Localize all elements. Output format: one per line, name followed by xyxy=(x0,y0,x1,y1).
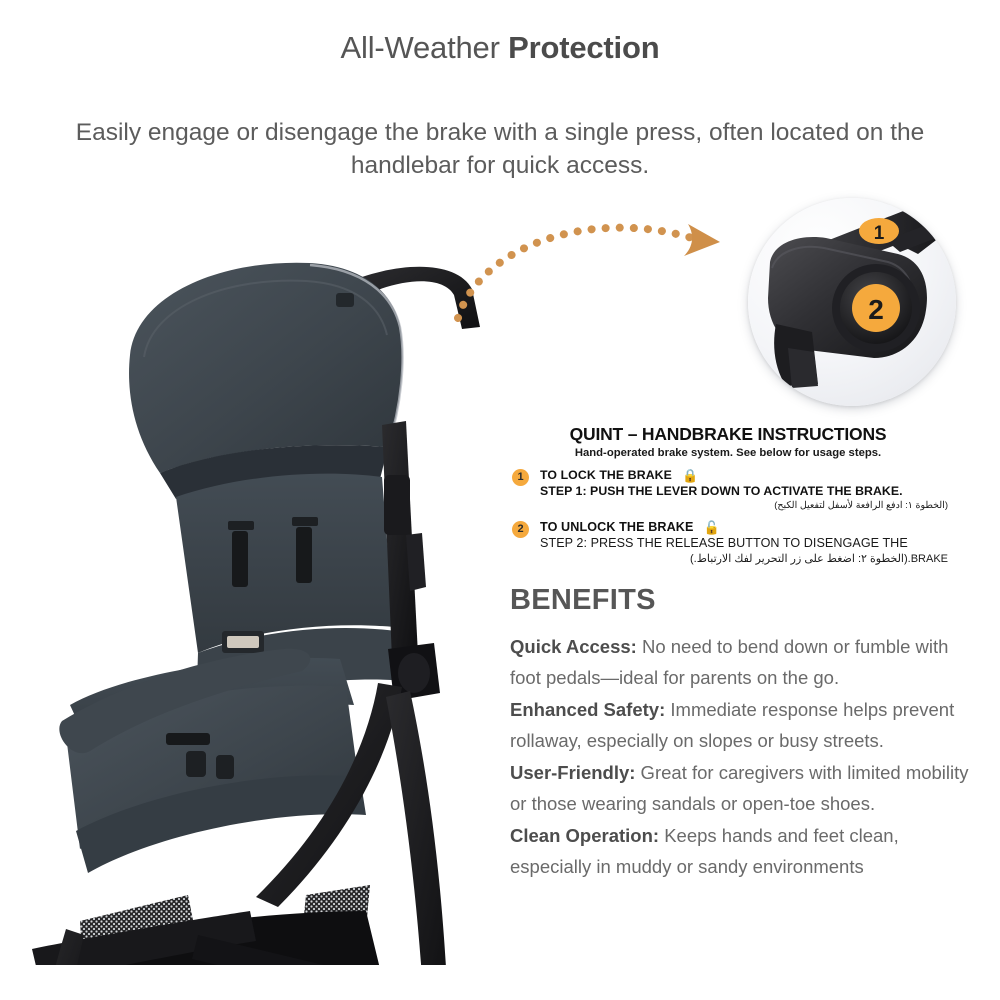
badge-2-label: 2 xyxy=(868,294,884,325)
step-2-heading: TO UNLOCK THE BRAKE xyxy=(540,520,694,534)
stroller-product-photo xyxy=(10,235,510,965)
step-2-arabic: BRAKE.(الخطوة ٢: اضغط على زر التحرير لفك… xyxy=(540,552,948,565)
instructions-title: QUINT – HANDBRAKE INSTRUCTIONS xyxy=(508,424,948,445)
closed-padlock-icon: 🔒 xyxy=(682,469,698,482)
step-2-heading-row: TO UNLOCK THE BRAKE 🔓 xyxy=(540,520,948,534)
page-subtitle: Easily engage or disengage the brake wit… xyxy=(60,117,940,182)
benefits-section: BENEFITS Quick Access: No need to bend d… xyxy=(510,584,980,883)
step-1-arabic: (الخطوة ١: ادفع الرافعة لأسفل لتفعيل الك… xyxy=(540,500,948,511)
step-2-badge: 2 xyxy=(512,521,529,538)
instructions-subtitle: Hand-operated brake system. See below fo… xyxy=(508,447,948,459)
benefit-label: Quick Access: xyxy=(510,636,637,657)
benefit-item: User-Friendly: Great for caregivers with… xyxy=(510,757,980,820)
handbrake-instructions-panel: QUINT – HANDBRAKE INSTRUCTIONS Hand-oper… xyxy=(508,424,948,565)
step-1-heading-row: TO LOCK THE BRAKE 🔒 xyxy=(540,468,948,482)
benefits-title: BENEFITS xyxy=(510,584,980,617)
step-2-line: STEP 2: PRESS THE RELEASE BUTTON TO DISE… xyxy=(540,536,948,550)
step-1-badge: 1 xyxy=(512,469,529,486)
benefit-item: Quick Access: No need to bend down or fu… xyxy=(510,631,980,694)
benefit-label: User-Friendly: xyxy=(510,762,635,783)
benefit-item: Clean Operation: Keeps hands and feet cl… xyxy=(510,820,980,883)
page-title-regular: All-Weather xyxy=(341,30,509,65)
brake-detail-circle: 2 1 xyxy=(748,198,956,406)
step-1-heading: TO LOCK THE BRAKE xyxy=(540,468,672,482)
benefit-label: Enhanced Safety: xyxy=(510,699,665,720)
instruction-step-1: 1 TO LOCK THE BRAKE 🔒 STEP 1: PUSH THE L… xyxy=(508,468,948,511)
open-padlock-icon: 🔓 xyxy=(704,521,720,534)
badge-1-label: 1 xyxy=(874,223,885,244)
page-title-bold: Protection xyxy=(508,30,659,65)
benefit-item: Enhanced Safety: Immediate response help… xyxy=(510,694,980,757)
dotted-curved-arrow xyxy=(440,190,770,330)
page-title: All-Weather Protection xyxy=(0,30,1000,66)
stroller-illustration xyxy=(10,235,510,965)
step-1-line: STEP 1: PUSH THE LEVER DOWN TO ACTIVATE … xyxy=(540,484,948,498)
instruction-step-2: 2 TO UNLOCK THE BRAKE 🔓 STEP 2: PRESS TH… xyxy=(508,520,948,565)
benefit-label: Clean Operation: xyxy=(510,825,659,846)
